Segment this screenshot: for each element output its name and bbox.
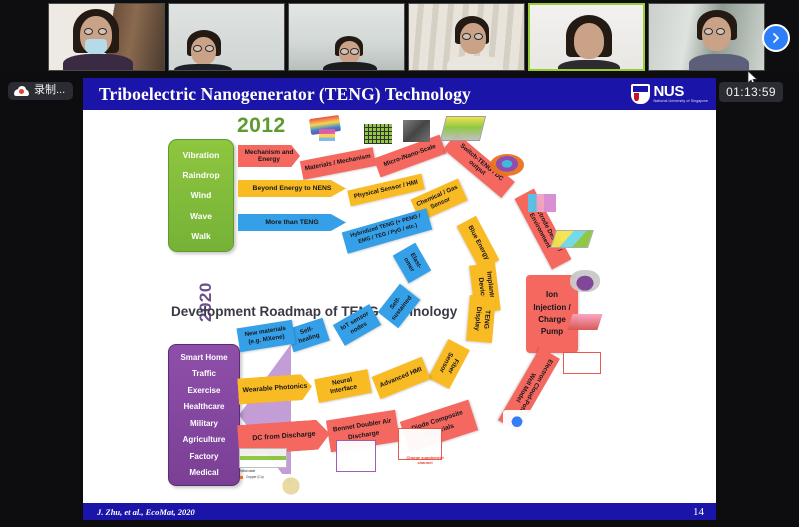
face-mask: [85, 39, 107, 55]
glasses-right-icon: [98, 28, 107, 35]
nus-crest-icon: [631, 84, 650, 104]
nus-logo: NUS National University of Singapore: [631, 84, 708, 104]
meeting-timer: 01:13:59: [719, 82, 783, 102]
legend-swatch-copper: [240, 476, 243, 479]
figure-gears: [273, 474, 309, 498]
blue-tag-2: Self-sustained: [378, 284, 421, 328]
amber-tag-6: Advanced HMI: [371, 357, 430, 399]
legend-copper: Copper (Cu): [246, 475, 264, 479]
participant-tiles: [48, 3, 765, 71]
shared-slide: Triboelectric Nanogenerator (TENG) Techn…: [83, 78, 716, 520]
source-item-2: Wind: [191, 190, 212, 200]
amber-tag-4: TENG Display: [466, 295, 496, 343]
torso-shape: [689, 54, 749, 71]
participant-tile-5-active-speaker[interactable]: [528, 3, 645, 71]
figure-layered-device: [440, 116, 486, 141]
blue-tag-1: Elast-omer: [393, 243, 432, 284]
year-label-start: 2012: [237, 114, 286, 138]
participant-tile-6[interactable]: [648, 3, 765, 71]
amber-tag-5: Fiber Sensor: [428, 339, 470, 389]
glasses-left-icon: [704, 28, 713, 35]
glasses-right-icon: [716, 28, 725, 35]
slide-header: Triboelectric Nanogenerator (TENG) Techn…: [83, 78, 716, 110]
figure-sem-image: [403, 120, 430, 142]
next-page-button[interactable]: [762, 24, 790, 52]
amber-head-tag: Beyond Energy to NENS: [238, 180, 346, 197]
application-item-7: Medical: [189, 468, 218, 477]
source-item-4: Walk: [191, 231, 211, 241]
cloud-record-icon: [14, 86, 29, 96]
figure-chemical-vial: [319, 129, 335, 141]
application-item-1: Traffic: [192, 369, 216, 378]
participant-tile-3[interactable]: [288, 3, 405, 71]
application-item-2: Exercise: [188, 386, 221, 395]
applications-box: Smart Home Traffic Exercise Healthcare M…: [168, 344, 240, 486]
glasses-right-icon: [350, 48, 359, 55]
glasses-left-icon: [193, 45, 202, 52]
slide-page-number: 14: [693, 506, 704, 518]
glasses-left-icon: [84, 28, 93, 35]
blue-head-tag: More than TENG: [238, 214, 346, 231]
amber-tag-7: Neural Interface: [314, 369, 372, 403]
screen-share-window: 录制... 01:13:59 Triboelectric Nanogenerat…: [0, 0, 799, 527]
amber-tag-8: Wearable Photonics: [237, 373, 313, 404]
participant-tile-1[interactable]: [48, 3, 165, 71]
figure-electrode-bars: [528, 194, 556, 212]
red-head-tag: Mechanism and Energy: [238, 145, 300, 167]
energy-sources-box: Vibration Raindrop Wind Wave Walk: [168, 139, 234, 252]
nus-logo-name: NUS: [653, 84, 708, 99]
application-item-3: Healthcare: [184, 402, 225, 411]
slide-title: Triboelectric Nanogenerator (TENG) Techn…: [99, 84, 471, 105]
figure-rotating-disc: [490, 154, 524, 176]
tile-background: [169, 4, 284, 70]
application-item-0: Smart Home: [180, 353, 227, 362]
figure-charge-pump-circuit: [563, 352, 601, 374]
source-item-3: Wave: [190, 211, 212, 221]
figure-ion-injection: [567, 314, 602, 330]
red-tag-4: Ion Injection / Charge Pump: [526, 275, 578, 353]
glasses-left-icon: [462, 33, 471, 40]
glasses-right-icon: [474, 33, 483, 40]
glasses-left-icon: [340, 48, 349, 55]
slide-citation: J. Zhu, et al., EcoMat, 2020: [97, 507, 195, 517]
source-item-0: Vibration: [183, 150, 220, 160]
torso-shape: [323, 62, 377, 71]
recording-indicator[interactable]: 录制...: [8, 82, 73, 100]
red-tag-0: Materials / Mechanism: [300, 147, 376, 180]
face-shape: [574, 23, 604, 59]
torso-shape: [174, 64, 232, 71]
participant-tile-4[interactable]: [408, 3, 525, 71]
application-item-6: Factory: [190, 452, 219, 461]
figure-nano-grid: [364, 124, 392, 144]
torso-shape: [558, 60, 620, 71]
torso-shape: [447, 56, 503, 71]
application-item-5: Agriculture: [183, 435, 226, 444]
chevron-right-icon: [770, 32, 782, 44]
figure-potential-well: [503, 410, 543, 436]
blue-tag-0: Hybridized TENG (+ PENG / EMG / TEG / Py…: [342, 208, 433, 253]
torso-shape: [63, 54, 133, 71]
application-item-4: Military: [190, 419, 218, 428]
legend-initial-state: Initial state: [240, 469, 255, 473]
nus-logo-subtitle: National University of Singapore: [653, 100, 708, 104]
figure-discharge-plot: [336, 440, 376, 472]
figure-copper-state: [239, 448, 287, 468]
glasses-right-icon: [205, 45, 214, 52]
figure-implant-device: [570, 270, 600, 292]
charge-note-label: Charge supplement channel: [403, 456, 447, 465]
source-item-1: Raindrop: [182, 170, 219, 180]
video-gallery-strip: [0, 0, 799, 74]
recording-label: 录制...: [34, 85, 65, 96]
slide-body: 2012 2020 Vibration Raindrop Wind Wave W…: [83, 110, 716, 503]
figure-electrode-plates: [550, 230, 594, 248]
participant-tile-2[interactable]: [168, 3, 285, 71]
slide-footer: J. Zhu, et al., EcoMat, 2020 14: [83, 503, 716, 520]
